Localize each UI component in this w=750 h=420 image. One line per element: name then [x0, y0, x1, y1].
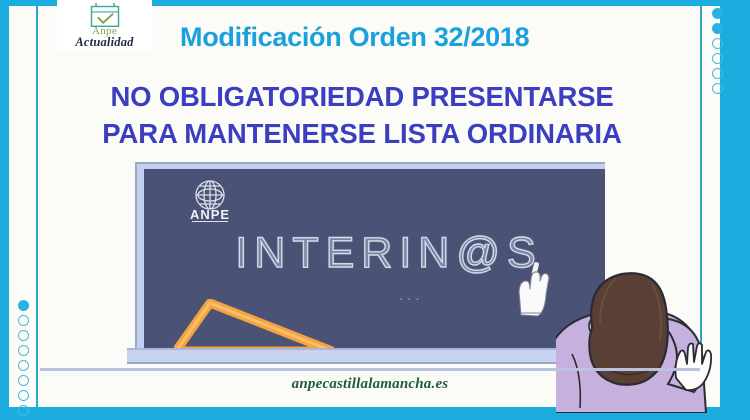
- headline-block: NO OBLIGATORIEDAD PRESENTARSE PARA MANTE…: [12, 78, 712, 152]
- left-dot-column: [18, 300, 29, 420]
- dot-indicator: [18, 375, 29, 386]
- dot-indicator: [712, 8, 723, 19]
- dot-indicator: [18, 315, 29, 326]
- brand-logo-actualidad: Actualidad: [75, 36, 133, 48]
- dot-indicator: [712, 38, 723, 49]
- dot-indicator: [712, 23, 723, 34]
- dot-indicator: [712, 53, 723, 64]
- dot-indicator: [18, 330, 29, 341]
- headline-line-2: PARA MANTENERSE LISTA ORDINARIA: [12, 115, 712, 152]
- footer-divider: [40, 368, 700, 371]
- dot-indicator: [712, 68, 723, 79]
- svg-text:ANPE: ANPE: [190, 207, 230, 222]
- triangle-ruler-icon: [174, 299, 334, 354]
- kicker-title: Modificación Orden 32/2018: [180, 22, 600, 53]
- right-dot-column: [712, 8, 723, 94]
- chalkboard-ledge: [127, 348, 613, 364]
- frame-left-border: [0, 0, 9, 420]
- hand-holding-chalk-icon: [507, 261, 559, 319]
- footer-url: anpecastillalamancha.es: [40, 376, 700, 393]
- brand-logo: Anpe Actualidad: [57, 0, 152, 50]
- dot-indicator: [712, 83, 723, 94]
- anpe-globe-logo: ANPE: [180, 179, 240, 223]
- chalkboard-surface: ANPE INTERIN@S ...: [144, 169, 605, 354]
- dot-indicator: [18, 300, 29, 311]
- chalkboard: ANPE INTERIN@S ...: [135, 162, 605, 362]
- chalk-trailing-dots: ...: [399, 287, 424, 304]
- headline-line-1: NO OBLIGATORIEDAD PRESENTARSE: [12, 78, 712, 115]
- left-gutter-rule: [36, 6, 38, 407]
- dot-indicator: [18, 390, 29, 401]
- poster-canvas: Anpe Actualidad Modificación Orden 32/20…: [0, 0, 750, 420]
- dot-indicator: [18, 345, 29, 356]
- dot-indicator: [18, 360, 29, 371]
- dot-indicator: [18, 405, 29, 416]
